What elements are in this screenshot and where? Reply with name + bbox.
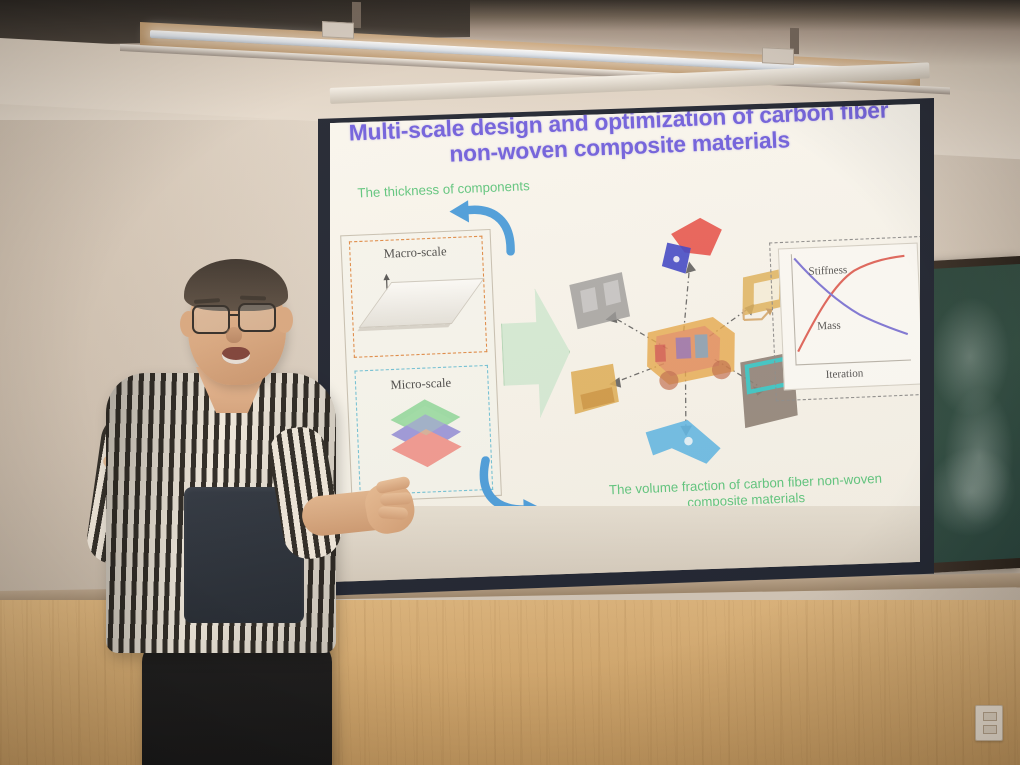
exploded-car-diagram [560,208,804,483]
presentation-slide: Multi-scale design and optimization of c… [330,104,920,552]
light-hanger-plate [322,21,354,39]
glasses-bridge-icon [228,314,240,316]
glasses-lens-right-icon [238,303,276,332]
power-outlet-icon [975,705,1003,741]
chart-series-label-mass: Mass [817,320,841,333]
presenter-finger [380,492,413,506]
chart-series-label-stiffness: Stiffness [808,265,847,278]
chalk-smudge [926,444,1016,539]
presenter-brow [240,296,266,301]
light-hanger-plate [762,47,794,65]
glasses-lens-left-icon [192,305,230,334]
presenter [80,255,410,765]
chalkboard-surface [922,264,1020,564]
lecture-photo-scene: Multi-scale design and optimization of c… [0,0,1020,765]
presenter-nose [226,327,242,343]
presenter-trousers [142,640,332,765]
car-parts-svg [560,208,804,483]
presenter-finger [378,506,409,520]
presenter-mouth [222,347,250,364]
chart-xaxis-label: Iteration [825,368,863,381]
projector-screen: Multi-scale design and optimization of c… [330,104,920,582]
presenter-ear [276,307,293,333]
